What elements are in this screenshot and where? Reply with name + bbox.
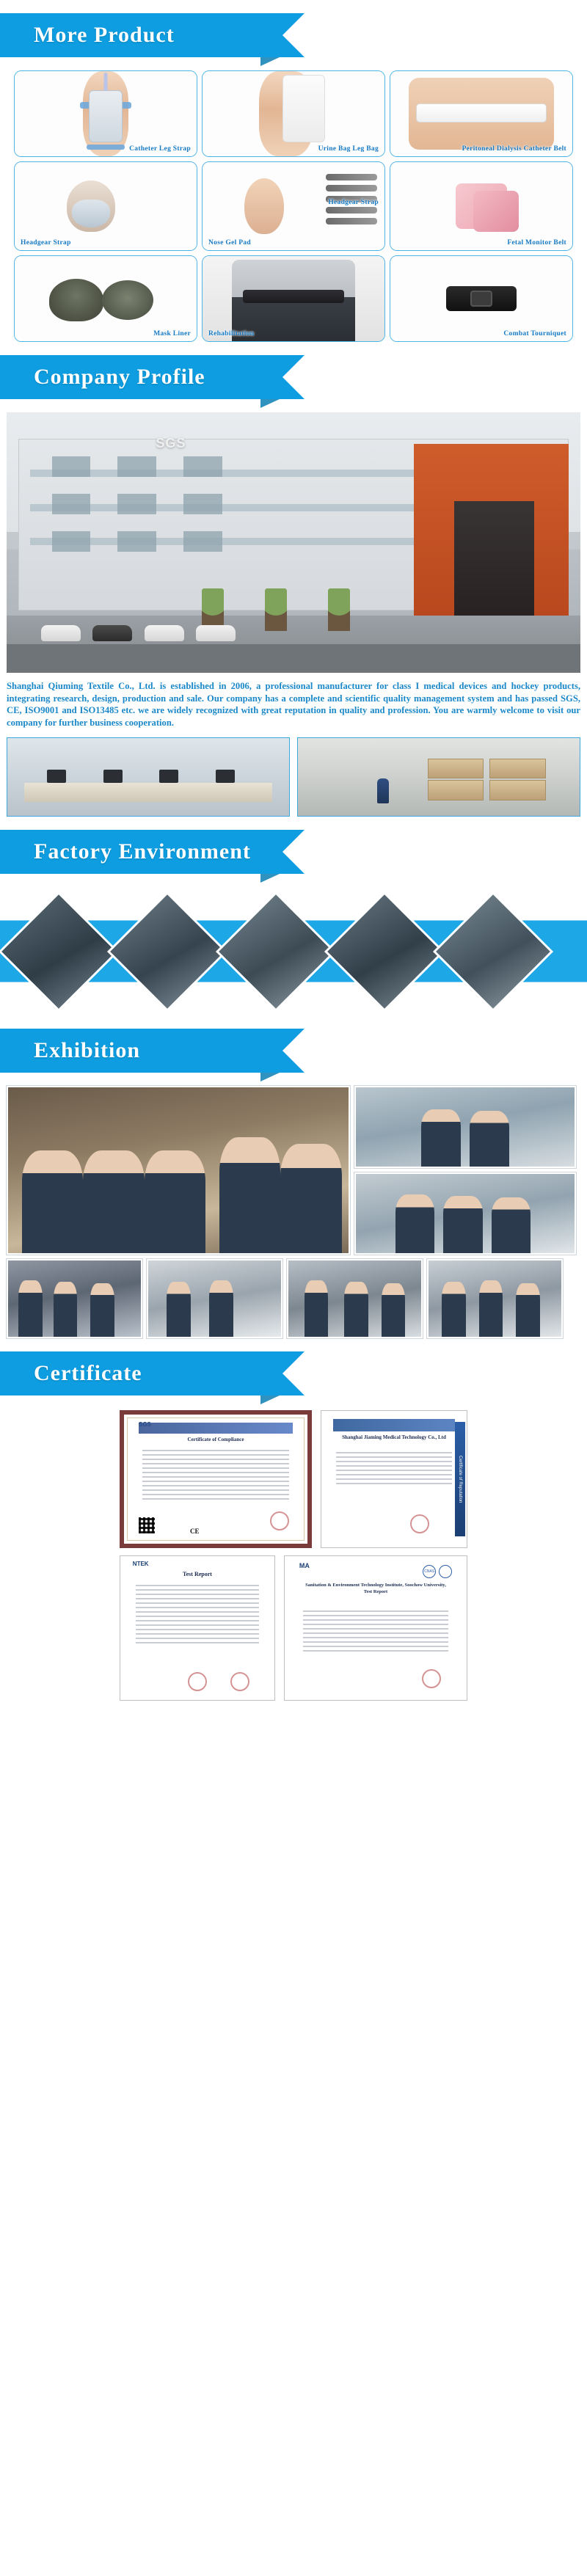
- banner-shape: Exhibition: [0, 1029, 282, 1073]
- certificate-title: Test Report: [120, 1571, 274, 1577]
- product-caption-secondary: Headgear Strap: [328, 199, 379, 206]
- product-image-rehabilitation: [203, 256, 384, 341]
- product-detail-page: More Product Catheter Leg Strap Urine Ba…: [0, 13, 587, 1701]
- banner-fold-decoration: [260, 1395, 280, 1404]
- section-title: More Product: [0, 23, 175, 48]
- section-banner-company-profile: Company Profile: [0, 355, 587, 408]
- product-card[interactable]: Mask Liner: [14, 255, 197, 342]
- product-card[interactable]: Nose Gel Pad Headgear Strap: [202, 161, 385, 251]
- certificate-title: Sanitation & Environment Technology Inst…: [285, 1582, 467, 1595]
- banner-fold-decoration: [260, 1073, 280, 1081]
- office-photo-row: [7, 737, 580, 817]
- banner-fold-decoration: [260, 874, 280, 883]
- certificate-side-text: Certificate of Reputation: [455, 1422, 465, 1536]
- ce-mark: CE: [190, 1528, 200, 1535]
- factory-photo: [433, 891, 553, 1011]
- certificate-card[interactable]: Shanghai Jiaming Medical Technology Co.,…: [321, 1410, 467, 1548]
- exhibition-photo: [147, 1259, 282, 1338]
- factory-photo-strip: [0, 887, 587, 1015]
- product-image-catheter-leg-strap: [15, 71, 197, 156]
- banner-shape: Certificate: [0, 1351, 282, 1395]
- exhibition-gallery: [7, 1086, 580, 1338]
- section-title: Company Profile: [0, 365, 205, 390]
- exhibition-photo: [427, 1259, 563, 1338]
- accreditation-badges: CNAS: [423, 1565, 452, 1578]
- exhibition-photo: [354, 1086, 576, 1168]
- product-card[interactable]: Fetal Monitor Belt: [390, 161, 573, 251]
- product-caption: Urine Bag Leg Bag: [318, 145, 379, 153]
- section-banner-factory-environment: Factory Environment: [0, 830, 587, 883]
- qr-code-icon: [139, 1517, 155, 1533]
- product-image-nose-gel-pad: [203, 162, 384, 250]
- certificate-title: Shanghai Jiaming Medical Technology Co.,…: [321, 1434, 467, 1440]
- sgs-watermark: SGS: [156, 436, 186, 451]
- section-banner-exhibition: Exhibition: [0, 1029, 587, 1081]
- product-caption: Mask Liner: [153, 330, 191, 337]
- banner-shape: More Product: [0, 13, 282, 57]
- product-image-mask-liner: [15, 256, 197, 341]
- product-card[interactable]: Urine Bag Leg Bag: [202, 70, 385, 157]
- product-caption: Fetal Monitor Belt: [507, 239, 566, 247]
- certificate-card[interactable]: MA CNAS Sanitation & Environment Technol…: [284, 1555, 467, 1701]
- certificate-card[interactable]: SGS Certificate of Compliance CE: [120, 1410, 312, 1548]
- warehouse-photo: [297, 737, 580, 817]
- cnas-badge: CNAS: [423, 1565, 436, 1578]
- product-card[interactable]: Headgear Strap: [14, 161, 197, 251]
- section-title: Exhibition: [0, 1038, 140, 1063]
- factory-photo: [324, 891, 445, 1011]
- section-banner-certificate: Certificate: [0, 1351, 587, 1404]
- banner-fold-decoration: [260, 57, 280, 66]
- product-image-combat-tourniquet: [390, 256, 572, 341]
- product-caption: Headgear Strap: [21, 239, 71, 247]
- product-card[interactable]: Catheter Leg Strap: [14, 70, 197, 157]
- product-caption: Rehabilitation: [208, 330, 254, 337]
- factory-photo: [0, 891, 119, 1011]
- company-description: Shanghai Qiuming Textile Co., Ltd. is es…: [7, 680, 580, 729]
- accreditation-badge-2: [439, 1565, 452, 1578]
- factory-photo: [107, 891, 227, 1011]
- certificate-logo: NTEK: [133, 1561, 149, 1567]
- product-card[interactable]: Rehabilitation: [202, 255, 385, 342]
- section-title: Certificate: [0, 1361, 142, 1386]
- product-card[interactable]: Peritoneal Dialysis Catheter Belt: [390, 70, 573, 157]
- banner-shape: Company Profile: [0, 355, 282, 399]
- certificate-card[interactable]: NTEK Test Report: [120, 1555, 275, 1701]
- product-card[interactable]: Combat Tourniquet: [390, 255, 573, 342]
- product-image-urine-bag-leg-bag: [203, 71, 384, 156]
- product-caption: Catheter Leg Strap: [129, 145, 191, 153]
- product-caption: Combat Tourniquet: [503, 330, 566, 337]
- product-image-headgear-strap-mask: [15, 162, 197, 250]
- exhibition-photo: [287, 1259, 423, 1338]
- section-banner-more-product: More Product: [0, 13, 587, 66]
- banner-shape: Factory Environment: [0, 830, 282, 874]
- certificate-title: Certificate of Compliance: [124, 1437, 307, 1442]
- certificate-logo: MA: [299, 1562, 310, 1569]
- exhibition-photo: [354, 1172, 576, 1255]
- factory-photo: [216, 891, 336, 1011]
- section-title: Factory Environment: [0, 839, 251, 864]
- certificate-gallery: SGS Certificate of Compliance CE Shangha…: [7, 1410, 580, 1701]
- product-grid: Catheter Leg Strap Urine Bag Leg Bag Per…: [14, 70, 573, 342]
- product-image-fetal-monitor-belt: [390, 162, 572, 250]
- exhibition-photo: [7, 1259, 142, 1338]
- exhibition-photo: [7, 1086, 350, 1255]
- company-building-photo: SGS: [7, 412, 580, 673]
- product-image-peritoneal-dialysis-belt: [390, 71, 572, 156]
- product-caption: Peritoneal Dialysis Catheter Belt: [462, 145, 566, 153]
- office-photo: [7, 737, 290, 817]
- product-caption: Nose Gel Pad: [208, 239, 251, 247]
- banner-fold-decoration: [260, 399, 280, 408]
